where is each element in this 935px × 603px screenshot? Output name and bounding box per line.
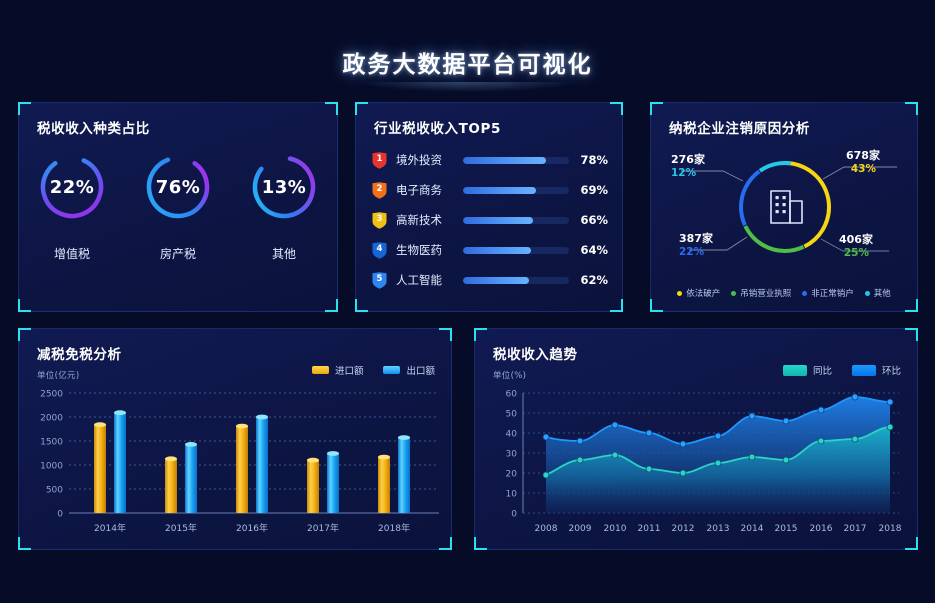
legend-label: 进口额 <box>335 363 364 377</box>
legend-item[interactable]: 环比 <box>852 363 901 377</box>
gauge-label: 增值税 <box>54 245 90 262</box>
cancel-donut-chart: 678家 43% 406家 25% 387家 22% 276家 12% <box>651 133 917 281</box>
svg-text:2000: 2000 <box>40 414 63 424</box>
bar-group-2017 <box>307 451 339 513</box>
svg-text:2017: 2017 <box>844 524 867 534</box>
progress-track <box>463 157 569 164</box>
progress-fill <box>463 157 546 164</box>
svg-text:0: 0 <box>57 510 63 520</box>
legend-item[interactable]: 吊销营业执照 <box>731 287 791 299</box>
legend-label: 依法破产 <box>686 287 720 299</box>
corner-bracket-tl <box>18 102 31 115</box>
industry-percent: 64% <box>578 243 608 257</box>
gauge-ring-property-tax: 76% <box>142 151 214 223</box>
progress-fill <box>463 187 536 194</box>
svg-text:30: 30 <box>506 450 518 460</box>
corner-bracket-tr <box>439 328 452 341</box>
legend-item[interactable]: 进口额 <box>312 363 364 377</box>
legend-label: 其他 <box>874 287 891 299</box>
segment-percent: 43% <box>846 163 880 175</box>
panel-tax-trend: 税收收入趋势 单位(%) 同比 环比 <box>474 328 918 550</box>
gauge-value: 76% <box>142 151 214 223</box>
gauge-item[interactable]: 22% 增值税 <box>19 151 125 301</box>
donut-legend: 依法破产 吊销营业执照 非正常销户 其他 <box>651 287 917 299</box>
progress-fill <box>463 247 531 254</box>
building-icon <box>771 191 802 223</box>
panel-title: 税收收入趋势 <box>493 343 578 363</box>
segment-label-abnormal: 387家 22% <box>679 230 723 258</box>
progress-track <box>463 247 569 254</box>
area-chart-legend: 同比 环比 <box>783 363 901 377</box>
segment-count: 387家 <box>679 230 723 246</box>
legend-item[interactable]: 同比 <box>783 363 832 377</box>
legend-label: 非正常销户 <box>811 287 854 299</box>
progress-track <box>463 217 569 224</box>
svg-text:50: 50 <box>506 410 518 420</box>
svg-text:2018: 2018 <box>879 524 902 534</box>
bar-group-2018 <box>378 435 410 513</box>
rank-number: 4 <box>372 242 387 259</box>
corner-bracket-tl <box>355 102 368 115</box>
rank-shield-icon: 4 <box>372 242 387 259</box>
svg-text:2500: 2500 <box>40 390 63 400</box>
progress-track <box>463 187 569 194</box>
panel-reduction-analysis: 减税免税分析 单位(亿元) 进口额 出口额 <box>18 328 452 550</box>
segment-percent: 25% <box>839 247 873 259</box>
gauge-item[interactable]: 13% 其他 <box>231 151 337 301</box>
corner-bracket-tr <box>905 328 918 341</box>
rank-shield-icon: 1 <box>372 152 387 169</box>
legend-swatch-mom <box>852 365 876 376</box>
legend-dot-icon <box>677 291 682 296</box>
rank-shield-icon: 5 <box>372 272 387 289</box>
rank-number: 2 <box>372 182 387 199</box>
corner-bracket-tl <box>474 328 487 341</box>
rank-shield-icon: 2 <box>372 182 387 199</box>
gauge-group: 22% 增值税 <box>19 151 337 301</box>
svg-text:2015年: 2015年 <box>165 522 197 534</box>
legend-dot-icon <box>802 291 807 296</box>
svg-text:2015: 2015 <box>775 524 798 534</box>
industry-name: 生物医药 <box>396 242 454 258</box>
segment-percent: 12% <box>671 167 715 179</box>
industry-name: 电子商务 <box>396 182 454 198</box>
progress-track <box>463 277 569 284</box>
dashboard-root: 政务大数据平台可视化 税收收入种类占比 <box>0 0 935 603</box>
svg-text:2010: 2010 <box>604 524 627 534</box>
svg-text:60: 60 <box>506 390 518 400</box>
progress-fill <box>463 277 529 284</box>
gauge-item[interactable]: 76% 房产税 <box>125 151 231 301</box>
industry-name: 高新技术 <box>396 212 454 228</box>
legend-dot-icon <box>731 291 736 296</box>
bar-group-2015 <box>165 442 197 513</box>
industry-percent: 78% <box>578 153 608 167</box>
list-item[interactable]: 3 高新技术 66% <box>372 205 608 235</box>
legend-swatch-import <box>312 366 329 374</box>
gauge-label: 房产税 <box>160 245 196 262</box>
gauge-label: 其他 <box>272 245 296 262</box>
svg-text:2011: 2011 <box>638 524 661 534</box>
segment-count: 678家 <box>846 147 880 163</box>
svg-text:2016年: 2016年 <box>236 522 268 534</box>
svg-text:2017年: 2017年 <box>307 522 339 534</box>
corner-bracket-tr <box>325 102 338 115</box>
rank-shield-icon: 3 <box>372 212 387 229</box>
industry-name: 境外投资 <box>396 152 454 168</box>
list-item[interactable]: 4 生物医药 64% <box>372 235 608 265</box>
y-axis-unit: 单位(%) <box>493 369 526 381</box>
legend-label: 吊销营业执照 <box>740 287 791 299</box>
list-item[interactable]: 1 境外投资 78% <box>372 145 608 175</box>
svg-text:2016: 2016 <box>810 524 833 534</box>
legend-dot-icon <box>865 291 870 296</box>
svg-text:2009: 2009 <box>569 524 592 534</box>
corner-bracket-bl <box>650 299 663 312</box>
svg-text:2013: 2013 <box>707 524 730 534</box>
legend-item[interactable]: 出口额 <box>383 363 435 377</box>
corner-bracket-tl <box>650 102 663 115</box>
svg-text:1000: 1000 <box>40 462 63 472</box>
panel-tax-types: 税收收入种类占比 22% <box>18 102 338 312</box>
industry-percent: 69% <box>578 183 608 197</box>
gauge-ring-value-added-tax: 22% <box>36 151 108 223</box>
corner-bracket-bl <box>355 299 368 312</box>
svg-text:2014年: 2014年 <box>94 522 126 534</box>
bar-chart-svg: 2500 2000 1500 1000 500 0 <box>19 385 453 545</box>
legend-item[interactable]: 非正常销户 <box>802 287 854 299</box>
legend-swatch-yoy <box>783 365 807 376</box>
rank-number: 1 <box>372 152 387 169</box>
segment-percent: 22% <box>679 246 723 258</box>
svg-text:2018年: 2018年 <box>378 522 410 534</box>
legend-swatch-export <box>383 366 400 374</box>
panel-title: 行业税收收入TOP5 <box>374 117 501 137</box>
segment-label-license-revoked: 406家 25% <box>839 231 873 259</box>
svg-text:1500: 1500 <box>40 438 63 448</box>
bar-group-2014 <box>94 410 126 513</box>
gauge-value: 13% <box>248 151 320 223</box>
legend-item[interactable]: 其他 <box>865 287 891 299</box>
industry-name: 人工智能 <box>396 272 454 288</box>
corner-bracket-tr <box>610 102 623 115</box>
legend-item[interactable]: 依法破产 <box>677 287 720 299</box>
svg-text:0: 0 <box>511 510 517 520</box>
svg-text:40: 40 <box>506 430 518 440</box>
list-item[interactable]: 5 人工智能 62% <box>372 265 608 295</box>
svg-text:20: 20 <box>506 470 518 480</box>
progress-fill <box>463 217 533 224</box>
legend-label: 同比 <box>813 363 832 377</box>
corner-bracket-tr <box>905 102 918 115</box>
gauge-ring-other: 13% <box>248 151 320 223</box>
list-item[interactable]: 2 电子商务 69% <box>372 175 608 205</box>
segment-count: 406家 <box>839 231 873 247</box>
industry-percent: 66% <box>578 213 608 227</box>
bar-group-2016 <box>236 415 268 513</box>
legend-label: 环比 <box>882 363 901 377</box>
panel-cancel-reasons: 纳税企业注销原因分析 <box>650 102 918 312</box>
corner-bracket-tl <box>18 328 31 341</box>
segment-count: 276家 <box>671 151 715 167</box>
industry-percent: 62% <box>578 273 608 287</box>
y-axis-unit: 单位(亿元) <box>37 369 79 381</box>
panel-title: 税收收入种类占比 <box>37 117 150 137</box>
svg-text:2014: 2014 <box>741 524 764 534</box>
rank-number: 5 <box>372 272 387 289</box>
panel-industry-top5: 行业税收收入TOP5 1 境外投资 78% 2 电子商务 69% <box>355 102 623 312</box>
gauge-value: 22% <box>36 151 108 223</box>
svg-text:500: 500 <box>46 486 63 496</box>
corner-bracket-br <box>610 299 623 312</box>
page-title: 政务大数据平台可视化 <box>0 45 935 79</box>
svg-text:2008: 2008 <box>535 524 558 534</box>
industry-list: 1 境外投资 78% 2 电子商务 69% 3 高 <box>372 145 608 295</box>
legend-label: 出口额 <box>406 363 435 377</box>
area-chart-svg: 60 50 40 30 20 10 0 <box>475 383 919 545</box>
segment-label-bankruptcy: 678家 43% <box>846 147 880 175</box>
svg-text:2012: 2012 <box>672 524 695 534</box>
svg-text:10: 10 <box>506 490 518 500</box>
panel-title: 减税免税分析 <box>37 343 122 363</box>
corner-bracket-br <box>905 299 918 312</box>
segment-label-other: 276家 12% <box>671 151 715 179</box>
rank-number: 3 <box>372 212 387 229</box>
bar-chart-legend: 进口额 出口额 <box>312 363 435 377</box>
